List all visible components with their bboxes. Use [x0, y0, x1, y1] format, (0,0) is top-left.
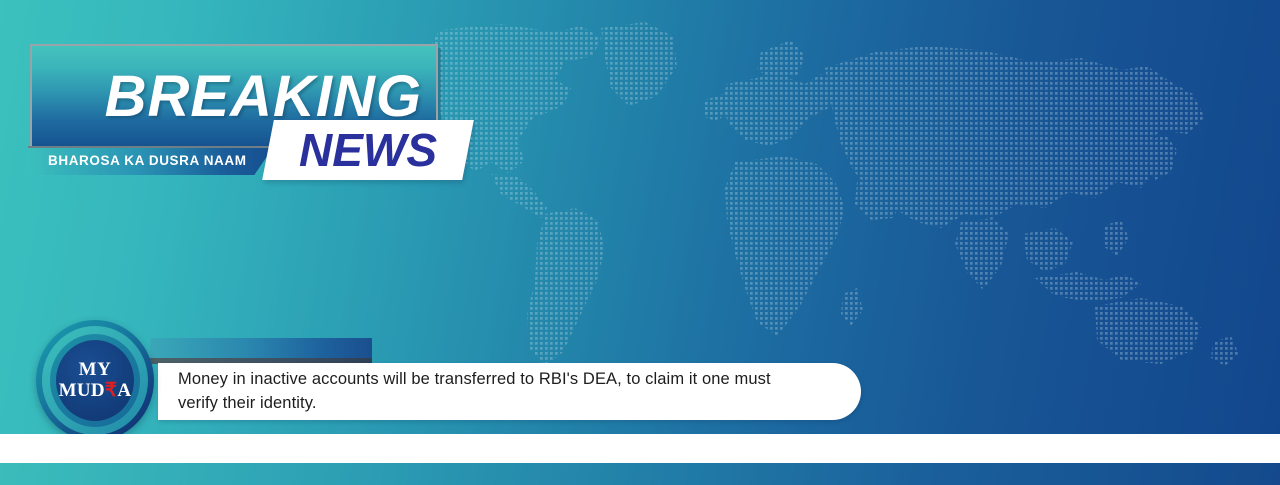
news-label: NEWS [268, 120, 468, 180]
tagline-bar: BHAROSA KA DUSRA NAAM [28, 146, 274, 175]
bottom-white-band [0, 434, 1280, 463]
headline-bubble: Money in inactive accounts will be trans… [158, 363, 861, 420]
world-map-dots [405, 22, 1245, 367]
logo-core: MY MUD₹A [56, 340, 134, 421]
headline-text: Money in inactive accounts will be trans… [158, 368, 861, 416]
logo-line-my: MY [79, 360, 112, 380]
my-mudra-logo[interactable]: MY MUD₹A [36, 320, 154, 441]
logo-line-mudra: MUD₹A [59, 381, 132, 401]
breaking-news-banner: BREAKING BHAROSA KA DUSRA NAAM NEWS Mone… [0, 0, 1280, 485]
headline-strip [150, 338, 372, 360]
breaking-title: BREAKING [105, 68, 422, 126]
logo-mudra-prefix: MUD [59, 380, 105, 401]
logo-mudra-suffix: A [117, 380, 131, 401]
news-box: NEWS [262, 120, 474, 180]
bottom-color-strip [0, 463, 1280, 485]
tagline-text: BHAROSA KA DUSRA NAAM [48, 146, 247, 175]
rupee-icon: ₹ [105, 380, 117, 401]
